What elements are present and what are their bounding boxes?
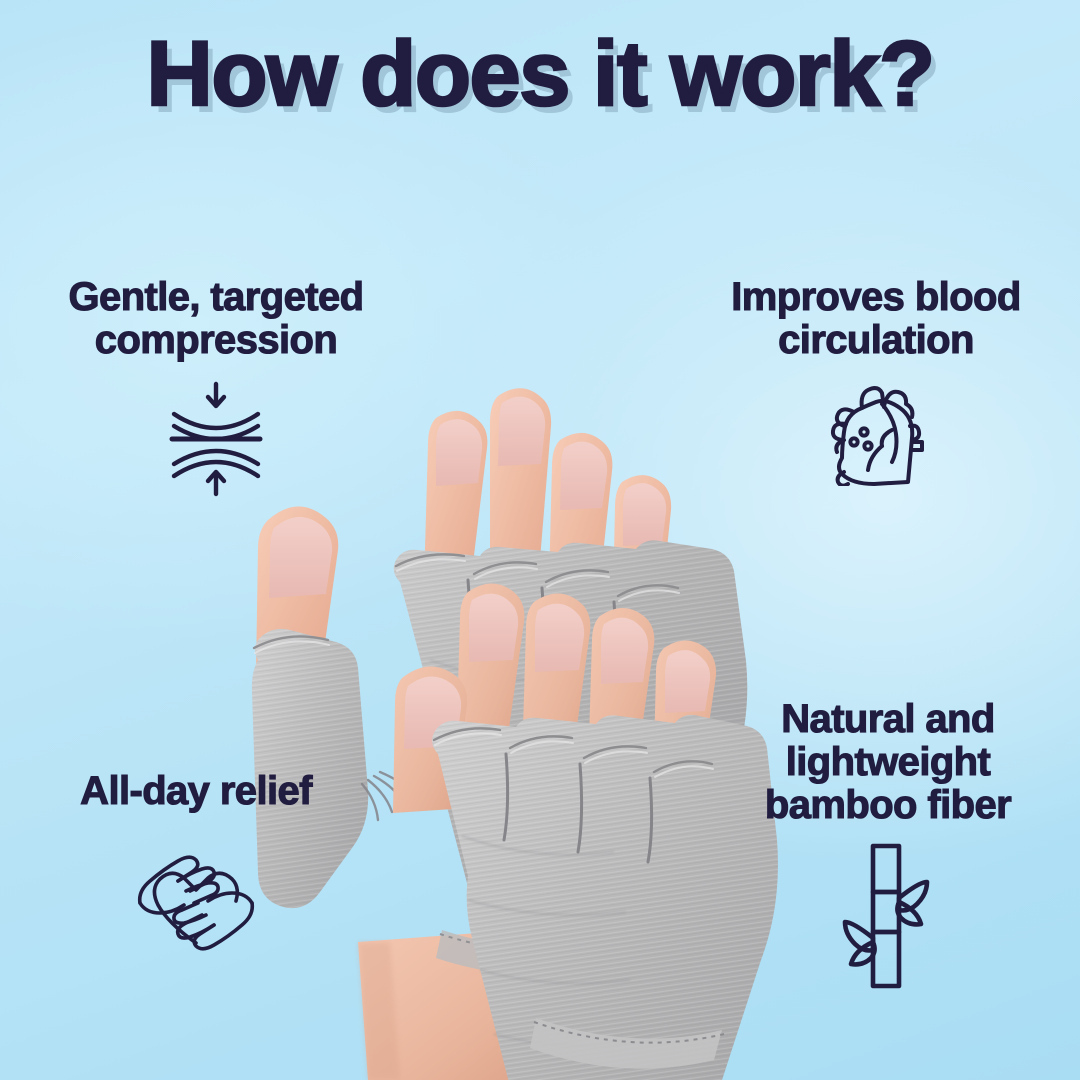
infographic-poster: How does it work?	[0, 0, 1080, 1080]
compression-waves-icon	[164, 380, 268, 498]
feature-relief-label: All-day relief	[80, 770, 312, 813]
feature-bamboo-label: Natural and lightweight bamboo fiber	[765, 698, 1011, 828]
page-title: How does it work?	[0, 28, 1080, 120]
feature-bamboo: Natural and lightweight bamboo fiber	[706, 698, 1070, 992]
anatomical-heart-icon	[824, 382, 928, 486]
feature-circulation: Improves blood circulation	[676, 276, 1076, 486]
feature-relief: All-day relief	[16, 770, 376, 965]
feature-circulation-label: Improves blood circulation	[731, 276, 1020, 362]
feature-compression: Gentle, targeted compression	[16, 276, 416, 498]
feature-compression-label: Gentle, targeted compression	[69, 276, 364, 362]
hands-holding-heart-icon	[134, 841, 258, 965]
bamboo-stalk-icon	[833, 840, 943, 992]
